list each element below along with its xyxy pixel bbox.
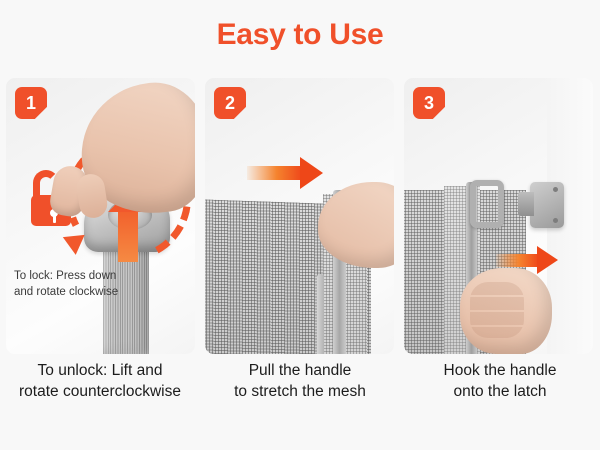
up-arrow-icon xyxy=(118,210,138,262)
caption-2-line-2: to stretch the mesh xyxy=(200,381,400,402)
step-panel-1: 1 To lock: Press down and rotate clockwi… xyxy=(6,78,195,354)
caption-3-line-1: Hook the handle xyxy=(444,362,557,379)
right-arrow-icon xyxy=(496,254,538,267)
caption-1-line-1: To unlock: Lift and xyxy=(38,362,163,379)
wall-latch xyxy=(530,182,564,228)
step-badge-3: 3 xyxy=(413,87,445,119)
step-panel-3: 3 xyxy=(404,78,593,354)
overlay-note-1: To lock: Press down and rotate clockwise xyxy=(14,268,120,301)
infographic-root: Easy to Use 1 To lock: Press down and r xyxy=(0,0,600,450)
latch-screw-bottom xyxy=(553,218,558,223)
caption-step-2: Pull the handle to stretch the mesh xyxy=(200,360,400,403)
caption-step-1: To unlock: Lift and rotate counterclockw… xyxy=(0,360,200,403)
caption-3-line-2: onto the latch xyxy=(400,381,600,402)
page-title: Easy to Use xyxy=(0,18,600,52)
caption-2-line-1: Pull the handle xyxy=(249,362,352,379)
hand-graphic xyxy=(460,268,552,354)
captions-row: To unlock: Lift and rotate counterclockw… xyxy=(0,360,600,403)
latch-screw-top xyxy=(553,187,558,192)
gate-handle xyxy=(470,180,504,228)
step-badge-2: 2 xyxy=(214,87,246,119)
step-badge-1: 1 xyxy=(15,87,47,119)
caption-step-3: Hook the handle onto the latch xyxy=(400,360,600,403)
caption-1-line-2: rotate counterclockwise xyxy=(0,381,200,402)
right-arrow-icon xyxy=(247,166,301,180)
gate-support-bar xyxy=(317,274,324,354)
step-panel-2: 2 xyxy=(205,78,394,354)
step-panels: 1 To lock: Press down and rotate clockwi… xyxy=(6,78,594,354)
